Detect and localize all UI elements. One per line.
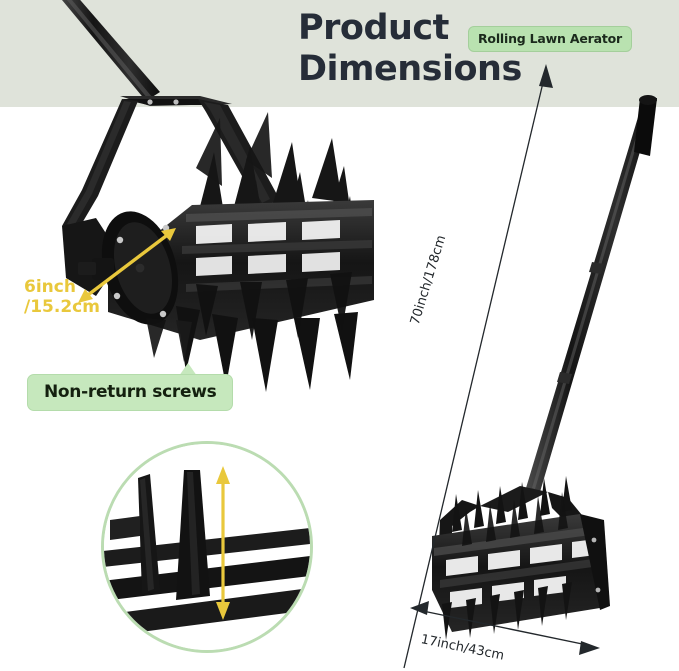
head-drum [432,514,610,632]
head-width-arrow-head-left [410,601,429,615]
full-product-view [404,64,657,668]
head-width-arrow-head-right [579,641,600,655]
drum-spikes-back [196,112,360,288]
handle-pole-right [526,95,657,492]
head-spikes-top [452,476,572,546]
callout-pointer-spike [176,320,192,362]
total-length-arrow [404,70,546,668]
dimension-label-drum-diameter: 6inch /15.2cm [24,278,100,317]
head-yoke [438,486,588,574]
dimension-label-head-width: 17inch/43cm [420,632,506,664]
title-line-2: Dimensions [298,49,658,90]
product-dimensions-infographic: Product Dimensions Rolling Lawn Aerator [0,0,679,671]
product-name-badge: Rolling Lawn Aerator [468,26,632,52]
dimension-label-total-length: 70inch/178cm [408,234,449,327]
spike-detail-circle [101,441,313,653]
spike-detail-art [104,444,310,650]
non-return-screws-callout: Non-return screws [27,374,233,411]
drum-yoke-frame [62,96,280,296]
diameter-arrow-head-top [161,228,176,241]
head-spikes-bottom [442,582,572,640]
drum-body [78,200,374,340]
